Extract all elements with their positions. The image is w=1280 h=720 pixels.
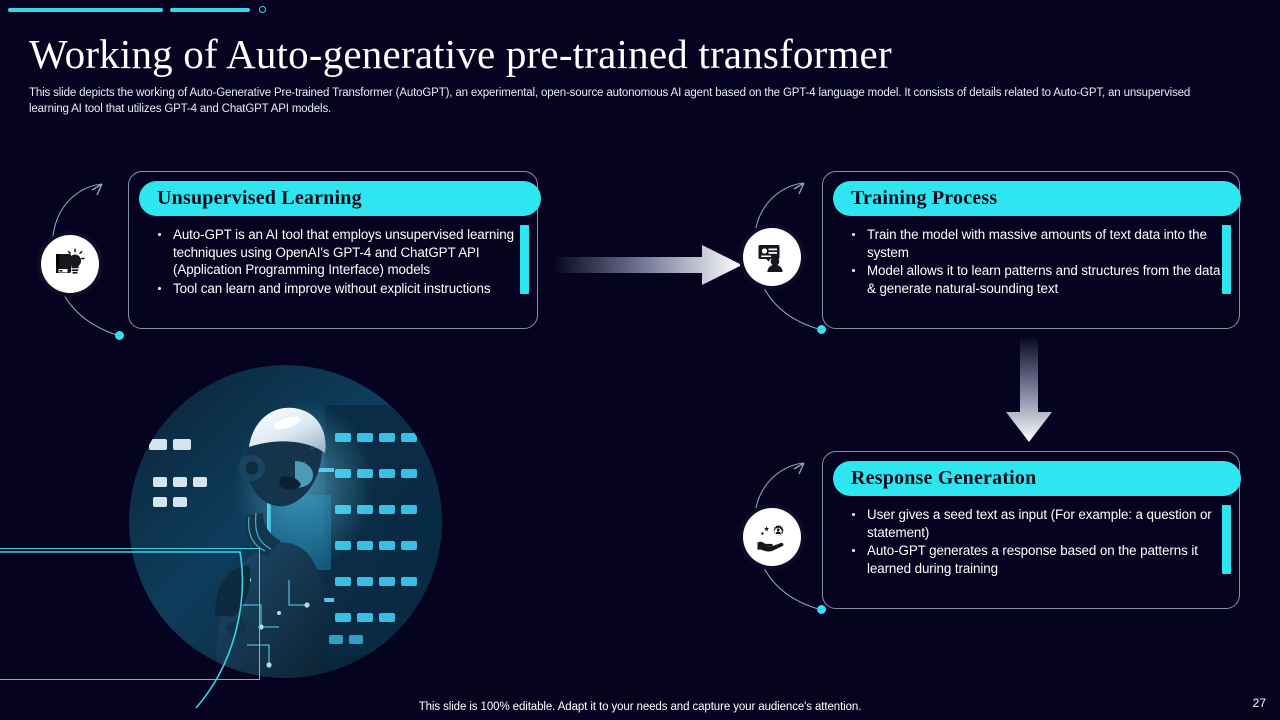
card-header-training-process: Training Process <box>833 181 1241 216</box>
presentation-training-icon <box>743 228 801 286</box>
top-accent-circle-icon <box>259 6 266 13</box>
card2-corner-dot <box>817 325 826 334</box>
decorative-arc <box>0 540 300 720</box>
slide-root: Working of Auto-generative pre-trained t… <box>0 0 1280 720</box>
list-item: Model allows it to learn patterns and st… <box>847 262 1229 297</box>
page-title: Working of Auto-generative pre-trained t… <box>29 30 1029 78</box>
list-item: Auto-GPT generates a response based on t… <box>847 542 1229 577</box>
card-header-response-generation: Response Generation <box>833 461 1241 496</box>
hand-gear-person-icon <box>743 508 801 566</box>
card-response-generation[interactable]: Response Generation User gives a seed te… <box>822 451 1240 609</box>
list-item: User gives a seed text as input (For exa… <box>847 506 1229 541</box>
arrow-down-icon <box>996 338 1062 442</box>
card-bullet-list-response-generation: User gives a seed text as input (For exa… <box>847 506 1229 578</box>
card-header-unsupervised-learning: Unsupervised Learning <box>139 181 541 216</box>
card-title-response-generation: Response Generation <box>851 467 1036 490</box>
list-item: Auto-GPT is an AI tool that employs unsu… <box>153 226 533 279</box>
card-title-unsupervised-learning: Unsupervised Learning <box>157 187 362 210</box>
page-subtitle: This slide depicts the working of Auto-G… <box>29 86 1219 117</box>
arrow-right-icon <box>556 243 742 287</box>
page-number: 27 <box>1253 696 1266 710</box>
book-lightbulb-icon <box>41 235 99 293</box>
top-accent-bar-right <box>170 8 250 12</box>
card-title-training-process: Training Process <box>851 187 997 210</box>
card1-corner-dot <box>115 331 124 340</box>
top-accent-bar-left <box>8 8 163 12</box>
card3-corner-dot <box>817 605 826 614</box>
list-item: Train the model with massive amounts of … <box>847 226 1229 261</box>
list-item: Tool can learn and improve without expli… <box>153 280 533 298</box>
card-unsupervised-learning[interactable]: Unsupervised Learning Auto-GPT is an AI … <box>128 171 538 329</box>
card-training-process[interactable]: Training Process Train the model with ma… <box>822 171 1240 329</box>
card-bullet-list-unsupervised-learning: Auto-GPT is an AI tool that employs unsu… <box>153 226 533 298</box>
card-bullet-list-training-process: Train the model with massive amounts of … <box>847 226 1229 298</box>
